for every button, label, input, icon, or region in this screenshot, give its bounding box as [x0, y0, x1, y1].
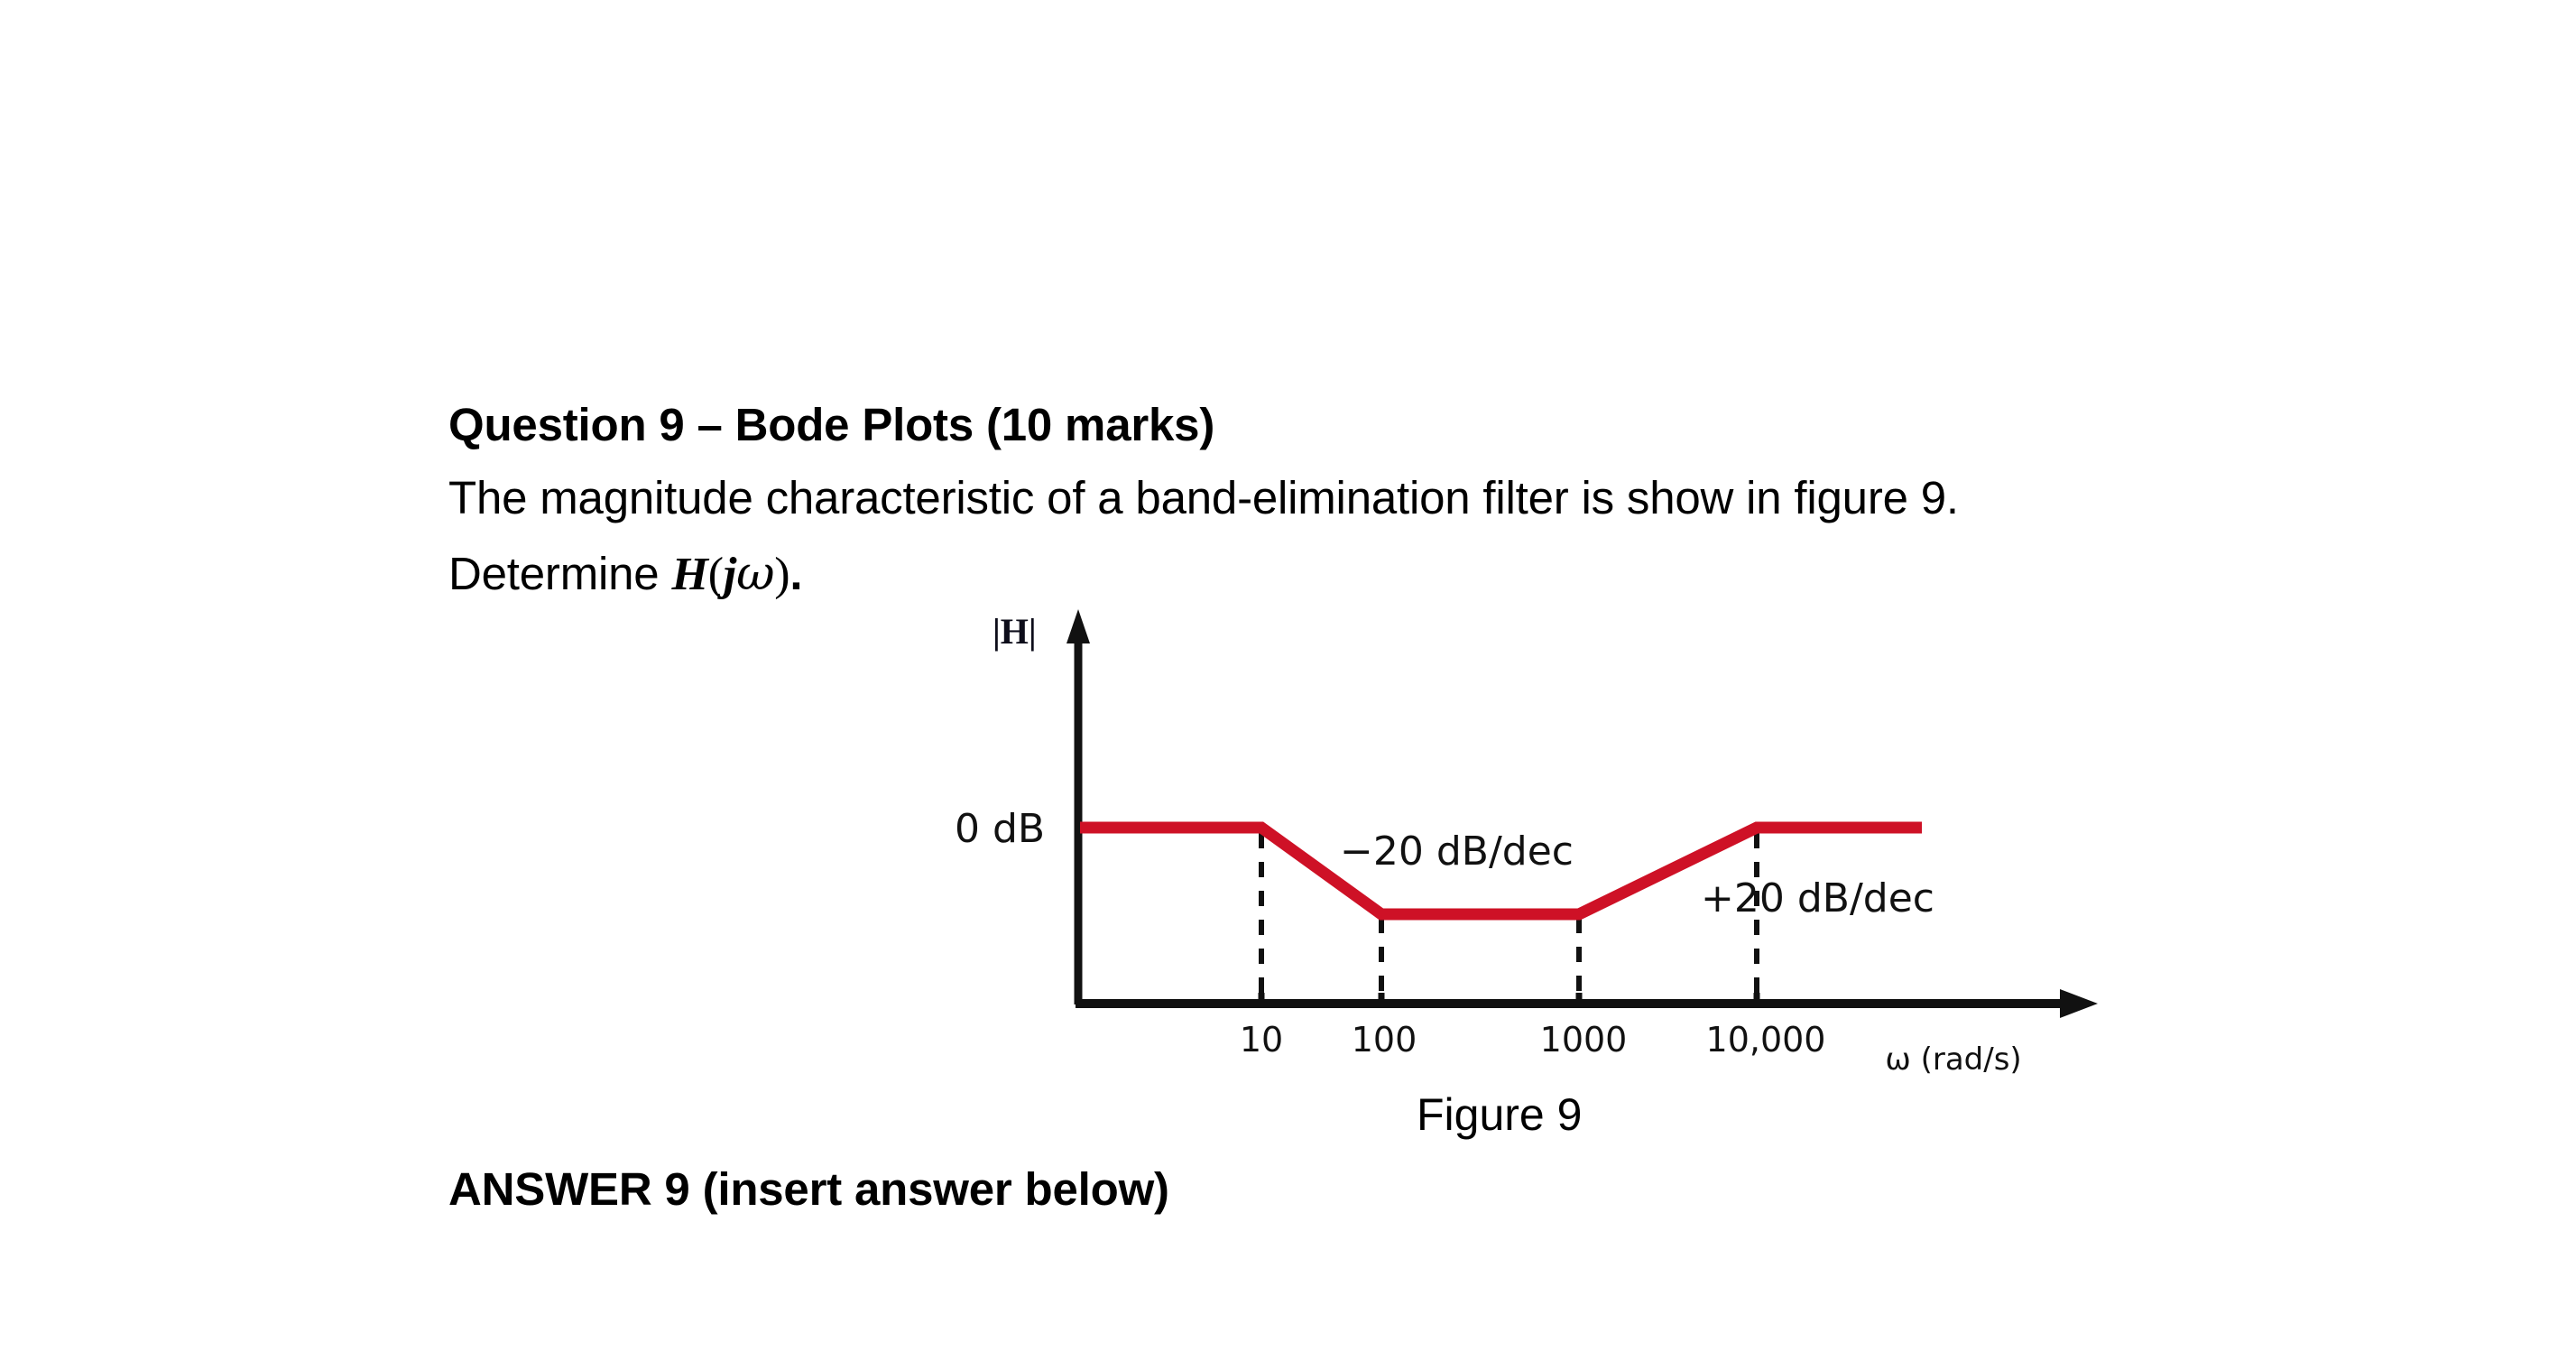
y-axis	[1066, 609, 1090, 1004]
document-page: Question 9 – Bode Plots (10 marks) The m…	[0, 0, 2576, 1370]
y-axis-label: |H|	[993, 611, 1037, 652]
x-tick-label-100: 100	[1352, 1020, 1417, 1060]
question-line-2-prefix: Determine	[448, 548, 671, 599]
math-j: j	[724, 549, 736, 600]
question-line-2-period: .	[789, 548, 802, 599]
bode-plot-figure: |H| 0 dB	[938, 591, 2138, 1097]
x-tick-label-10: 10	[1240, 1020, 1283, 1060]
x-axis	[1076, 989, 2098, 1018]
answer-prompt: ANSWER 9 (insert answer below)	[448, 1162, 1169, 1216]
x-axis-label: ω (rad/s)	[1885, 1041, 2021, 1078]
question-title: Question 9 – Bode Plots (10 marks)	[448, 390, 2479, 460]
zero-db-label: 0 dB	[955, 806, 1045, 852]
transfer-function-expression: H(jω)	[671, 549, 789, 600]
slope-up-label: +20 dB/dec	[1701, 875, 1934, 921]
math-open-paren: (	[708, 549, 724, 600]
question-line-1: The magnitude characteristic of a band-e…	[448, 460, 2479, 536]
math-H: H	[671, 549, 707, 600]
slope-down-label: −20 dB/dec	[1340, 828, 1574, 875]
figure-caption: Figure 9	[1417, 1088, 1582, 1141]
math-omega: ω	[736, 547, 774, 601]
x-tick-label-10000: 10,000	[1706, 1020, 1826, 1060]
math-close-paren: )	[774, 549, 789, 600]
question-block: Question 9 – Bode Plots (10 marks) The m…	[448, 390, 2479, 613]
x-tick-label-1000: 1000	[1540, 1020, 1628, 1060]
